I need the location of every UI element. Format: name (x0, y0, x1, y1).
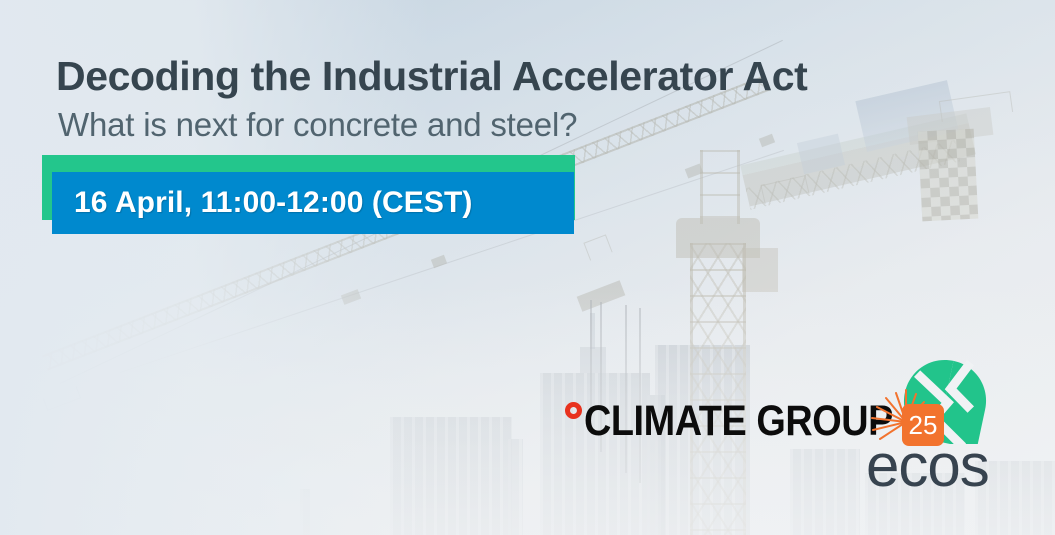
red-ring-icon (565, 402, 582, 419)
date-banner-label: 16 April, 11:00-12:00 (CEST) (74, 186, 473, 220)
heading-block: Decoding the Industrial Accelerator Act … (56, 50, 807, 146)
date-banner-plate: 16 April, 11:00-12:00 (CEST) (52, 172, 574, 234)
page-subtitle: What is next for concrete and steel? (58, 104, 807, 146)
climate-group-wordmark: CLIMATE GROUP (584, 400, 893, 443)
ecos-wordmark: ecos (866, 436, 989, 496)
page-title: Decoding the Industrial Accelerator Act (56, 50, 807, 102)
ecos-logo: 25 ecos (866, 358, 1016, 490)
webinar-promo-banner: Decoding the Industrial Accelerator Act … (0, 0, 1055, 535)
